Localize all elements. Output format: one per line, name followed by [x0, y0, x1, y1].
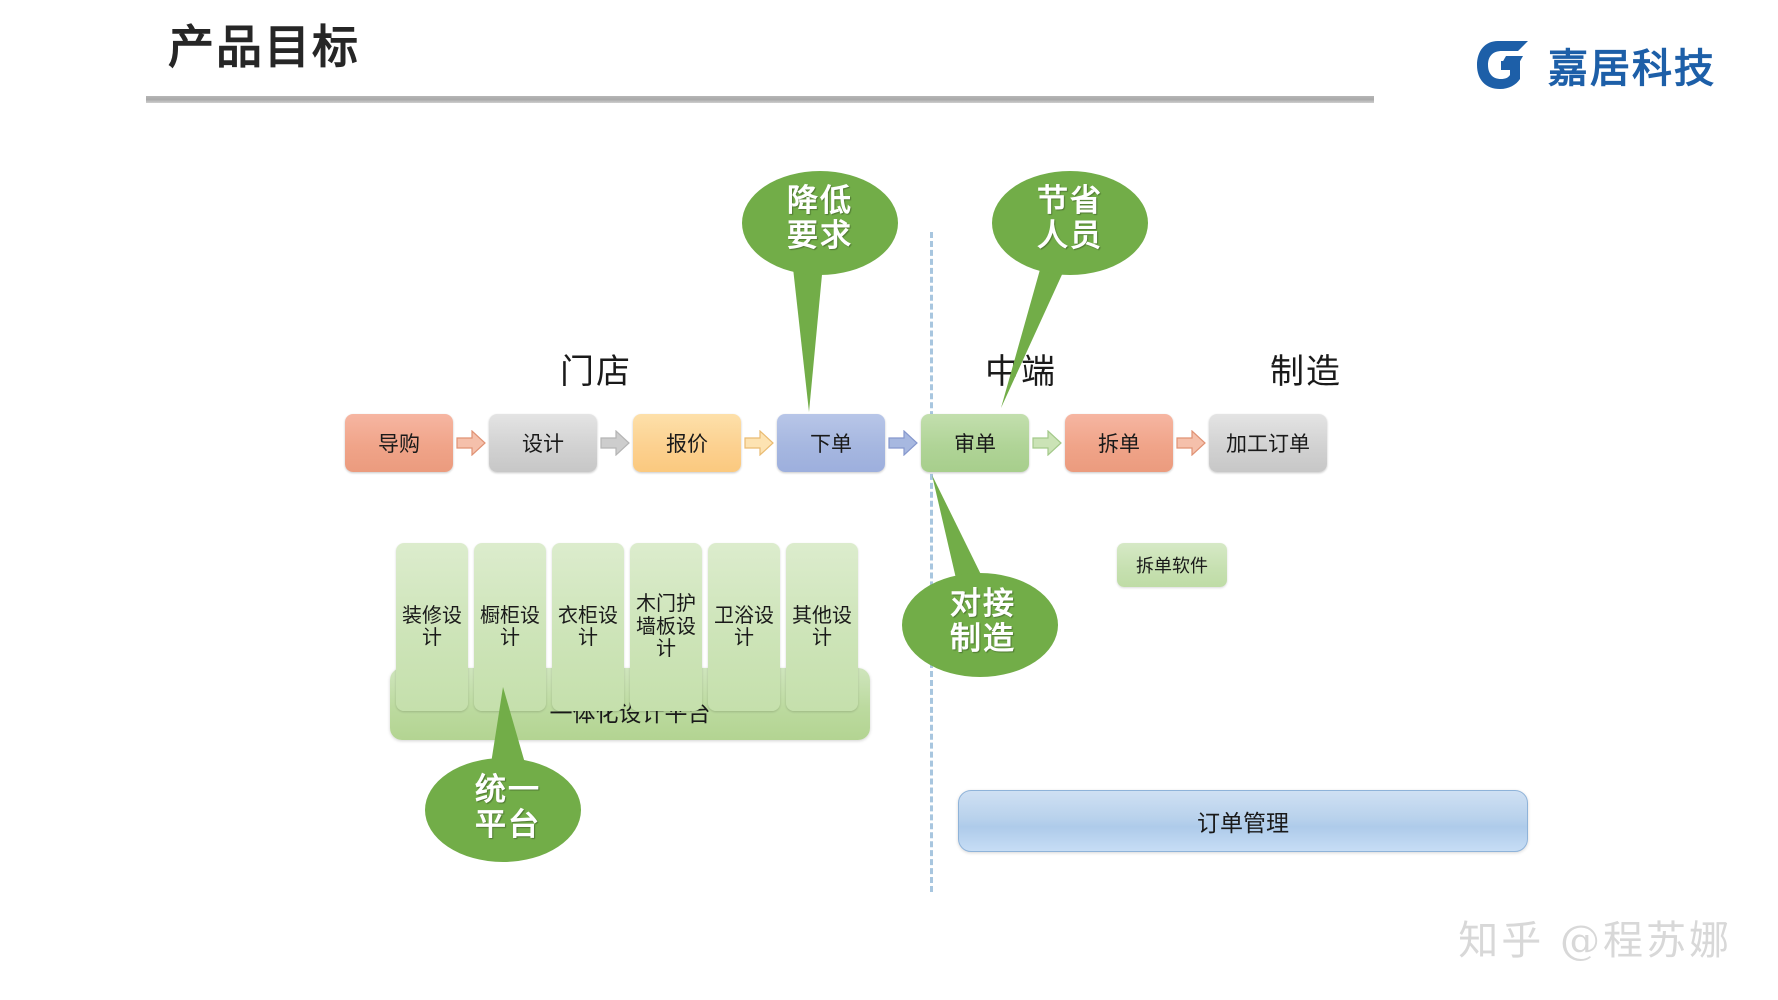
arrow-2-icon: [597, 430, 633, 456]
design-module-mumen[interactable]: 木门护墙板设计: [630, 543, 702, 711]
order-management-bar[interactable]: 订单管理: [958, 790, 1528, 852]
flow-step-label: 下单: [810, 428, 852, 458]
watermark: 知乎 @程苏娜: [1458, 908, 1732, 966]
design-module-qita[interactable]: 其他设计: [786, 543, 858, 711]
design-module-yigui[interactable]: 衣柜设计: [552, 543, 624, 711]
flow-step-sheji[interactable]: 设计: [489, 414, 597, 472]
g-logo-icon: [1476, 39, 1534, 91]
callout-bubble-shape: [735, 168, 905, 418]
callout-bubble-shape: [423, 745, 593, 890]
design-module-row: 装修设计 橱柜设计 衣柜设计 木门护墙板设计 卫浴设计 其他设计: [396, 543, 858, 711]
title-rule-divider: [146, 96, 1374, 103]
flow-step-shendan[interactable]: 审单: [921, 414, 1029, 472]
arrow-4-icon: [885, 430, 921, 456]
flow-step-baojia[interactable]: 报价: [633, 414, 741, 472]
design-module-weiyu[interactable]: 卫浴设计: [708, 543, 780, 711]
slide-canvas: 产品目标 嘉居科技 门店 中端 制造 导购 设计 报价: [0, 0, 1778, 1000]
arrow-5-icon: [1029, 430, 1065, 456]
callout-connect-manufacture[interactable]: 对接 制造: [898, 555, 1068, 715]
callout-unified-platform[interactable]: 统一 平台: [423, 745, 593, 890]
integrated-design-platform: 一体化设计平台 装修设计 橱柜设计 衣柜设计 木门护墙板设计 卫浴设计 其他设计: [390, 543, 870, 743]
chaidan-software-box[interactable]: 拆单软件: [1117, 543, 1227, 587]
arrow-1-icon: [453, 430, 489, 456]
flow-step-xiadan[interactable]: 下单: [777, 414, 885, 472]
callout-lower-requirement[interactable]: 降低 要求: [735, 168, 905, 418]
flow-step-label: 设计: [522, 428, 564, 458]
flow-step-label: 报价: [666, 428, 708, 458]
brand-logo: 嘉居科技: [1476, 36, 1716, 94]
flow-step-label: 拆单: [1098, 428, 1140, 458]
zone-label-manufacture: 制造: [1270, 344, 1342, 393]
page-title: 产品目标: [168, 22, 360, 73]
flow-step-chaidan[interactable]: 拆单: [1065, 414, 1173, 472]
callout-bubble-shape: [898, 555, 1068, 715]
process-flow-row: 导购 设计 报价 下单 审单 拆单: [345, 414, 1327, 472]
arrow-6-icon: [1173, 430, 1209, 456]
brand-name: 嘉居科技: [1548, 36, 1716, 94]
zone-label-store: 门店: [560, 344, 632, 393]
design-module-chugui[interactable]: 橱柜设计: [474, 543, 546, 711]
flow-step-daogou[interactable]: 导购: [345, 414, 453, 472]
arrow-3-icon: [741, 430, 777, 456]
callout-bubble-shape: [985, 168, 1155, 418]
flow-step-label: 导购: [378, 428, 420, 458]
flow-step-label: 审单: [954, 428, 996, 458]
callout-save-staff[interactable]: 节省 人员: [985, 168, 1155, 418]
flow-step-jiagongdingdan[interactable]: 加工订单: [1209, 414, 1327, 472]
flow-step-label: 加工订单: [1226, 428, 1310, 458]
design-module-zhuangxiu[interactable]: 装修设计: [396, 543, 468, 711]
